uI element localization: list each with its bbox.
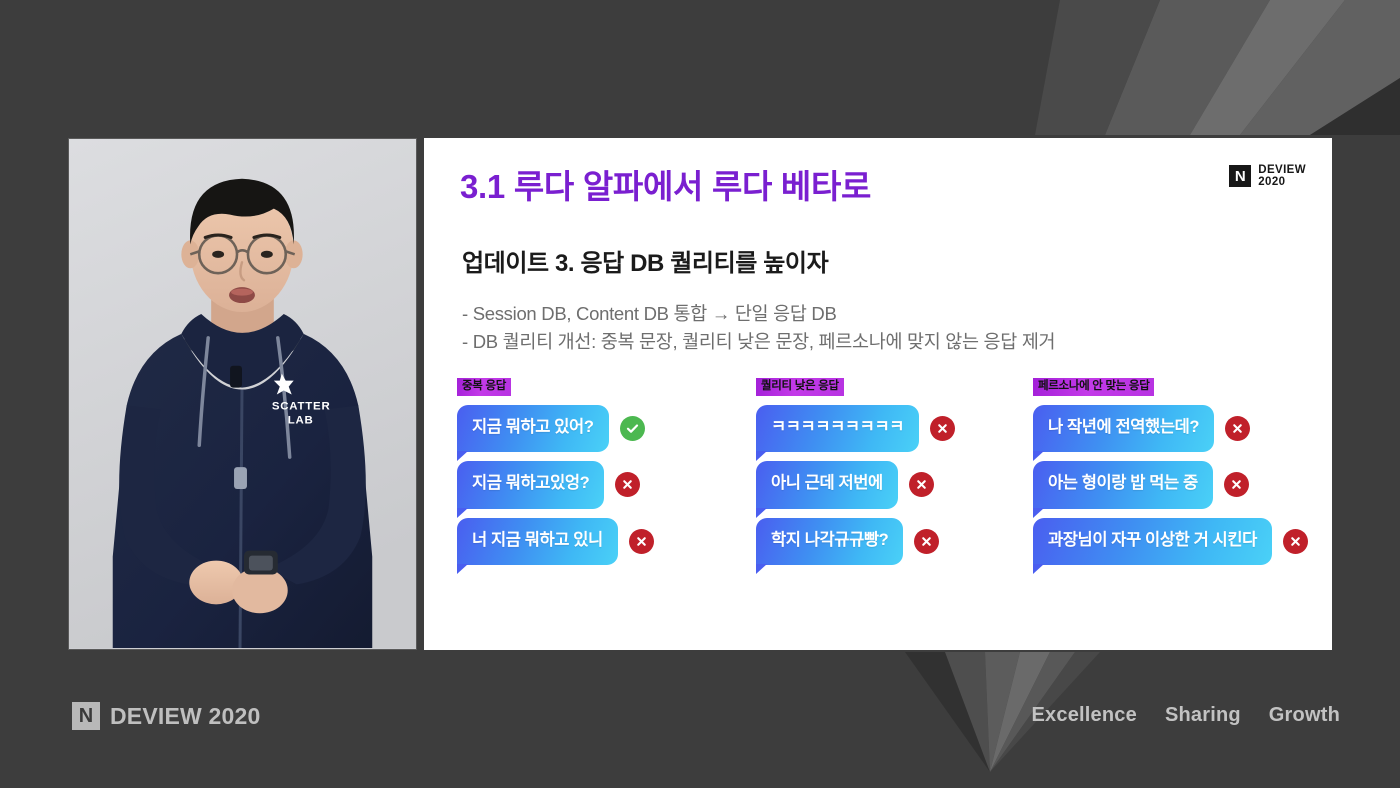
cross-icon — [1283, 529, 1308, 554]
chat-bubble: 과장님이 자꾸 이상한 거 시킨다 — [1033, 518, 1272, 565]
bubble-row: 지금 뭐하고 있어? — [457, 405, 707, 452]
speaker-figure: SCATTER LAB — [69, 139, 416, 648]
cross-icon — [629, 529, 654, 554]
bubble-row: ㅋㅋㅋㅋㅋㅋㅋㅋㅋ — [756, 405, 1006, 452]
footer-deview-logo: N DEVIEW 2020 — [72, 702, 261, 730]
svg-text:LAB: LAB — [288, 414, 314, 426]
example-column-duplicate: 중복 응답 지금 뭐하고 있어? 지금 뭐하고있엉? 너 지금 뭐하고 있니 — [457, 376, 707, 565]
presentation-slide: 3.1 루다 알파에서 루다 베타로 N DEVIEW 2020 업데이트 3.… — [424, 138, 1332, 650]
column-label: 페르소나에 안 맞는 응답 — [1033, 378, 1154, 396]
bullet-item: - DB 퀄리티 개선: 중복 문장, 퀄리티 낮은 문장, 페르소나에 맞지 … — [462, 328, 1055, 356]
chat-bubble: 아는 형이랑 밥 먹는 중 — [1033, 461, 1213, 508]
chat-bubble: 지금 뭐하고있엉? — [457, 461, 604, 508]
bubble-row: 아는 형이랑 밥 먹는 중 — [1033, 461, 1303, 508]
tagline-word-sharing: Sharing — [1165, 704, 1241, 727]
svg-text:SCATTER: SCATTER — [272, 400, 331, 412]
chat-bubble: 나 작년에 전역했는데? — [1033, 405, 1214, 452]
speaker-video-panel: SCATTER LAB — [68, 138, 417, 650]
tagline-word-growth: Growth — [1269, 704, 1340, 727]
bubble-row: 아니 근데 저번에 — [756, 461, 1006, 508]
column-label: 퀄리티 낮은 응답 — [756, 378, 844, 396]
bubble-row: 학지 나각규규빵? — [756, 518, 1006, 565]
bullet-item: - Session DB, Content DB 통합 → 단일 응답 DB — [462, 300, 1055, 328]
bubble-row: 너 지금 뭐하고 있니 — [457, 518, 707, 565]
chat-bubble: 아니 근데 저번에 — [756, 461, 898, 508]
bubble-row: 나 작년에 전역했는데? — [1033, 405, 1303, 452]
slide-subtitle: 업데이트 3. 응답 DB 퀄리티를 높이자 — [462, 243, 828, 278]
deview-footer-logo-mark-icon: N — [72, 702, 100, 730]
cross-icon — [909, 472, 934, 497]
cross-icon — [1225, 416, 1250, 441]
deview-logo-text: DEVIEW 2020 — [1258, 164, 1306, 188]
bubble-row: 지금 뭐하고있엉? — [457, 461, 707, 508]
deview-logo-line2: 2020 — [1258, 176, 1306, 188]
example-column-low-quality: 퀄리티 낮은 응답 ㅋㅋㅋㅋㅋㅋㅋㅋㅋ 아니 근데 저번에 학지 나각규규빵? — [756, 376, 1006, 565]
deview-logo-line1: DEVIEW — [1258, 164, 1306, 176]
column-label: 중복 응답 — [457, 378, 511, 396]
cross-icon — [930, 416, 955, 441]
bubble-row: 과장님이 자꾸 이상한 거 시킨다 — [1033, 518, 1303, 565]
deview-logo-slide: N DEVIEW 2020 — [1229, 164, 1306, 188]
deview-footer-logo-text: DEVIEW 2020 — [110, 703, 261, 730]
tagline-word-excellence: Excellence — [1032, 704, 1137, 727]
cross-icon — [1224, 472, 1249, 497]
cross-icon — [914, 529, 939, 554]
deview-logo-mark-icon: N — [1229, 165, 1251, 187]
bullet-list: - Session DB, Content DB 통합 → 단일 응답 DB -… — [462, 300, 1055, 356]
chat-bubble: 학지 나각규규빵? — [756, 518, 903, 565]
chat-bubble: ㅋㅋㅋㅋㅋㅋㅋㅋㅋ — [756, 405, 919, 452]
example-column-persona-mismatch: 페르소나에 안 맞는 응답 나 작년에 전역했는데? 아는 형이랑 밥 먹는 중… — [1033, 376, 1303, 565]
chat-bubble: 너 지금 뭐하고 있니 — [457, 518, 618, 565]
cross-icon — [615, 472, 640, 497]
check-icon — [620, 416, 645, 441]
chat-bubble: 지금 뭐하고 있어? — [457, 405, 609, 452]
slide-title: 3.1 루다 알파에서 루다 베타로 — [460, 160, 871, 208]
footer-tagline: Excellence Sharing Growth — [1032, 704, 1340, 727]
